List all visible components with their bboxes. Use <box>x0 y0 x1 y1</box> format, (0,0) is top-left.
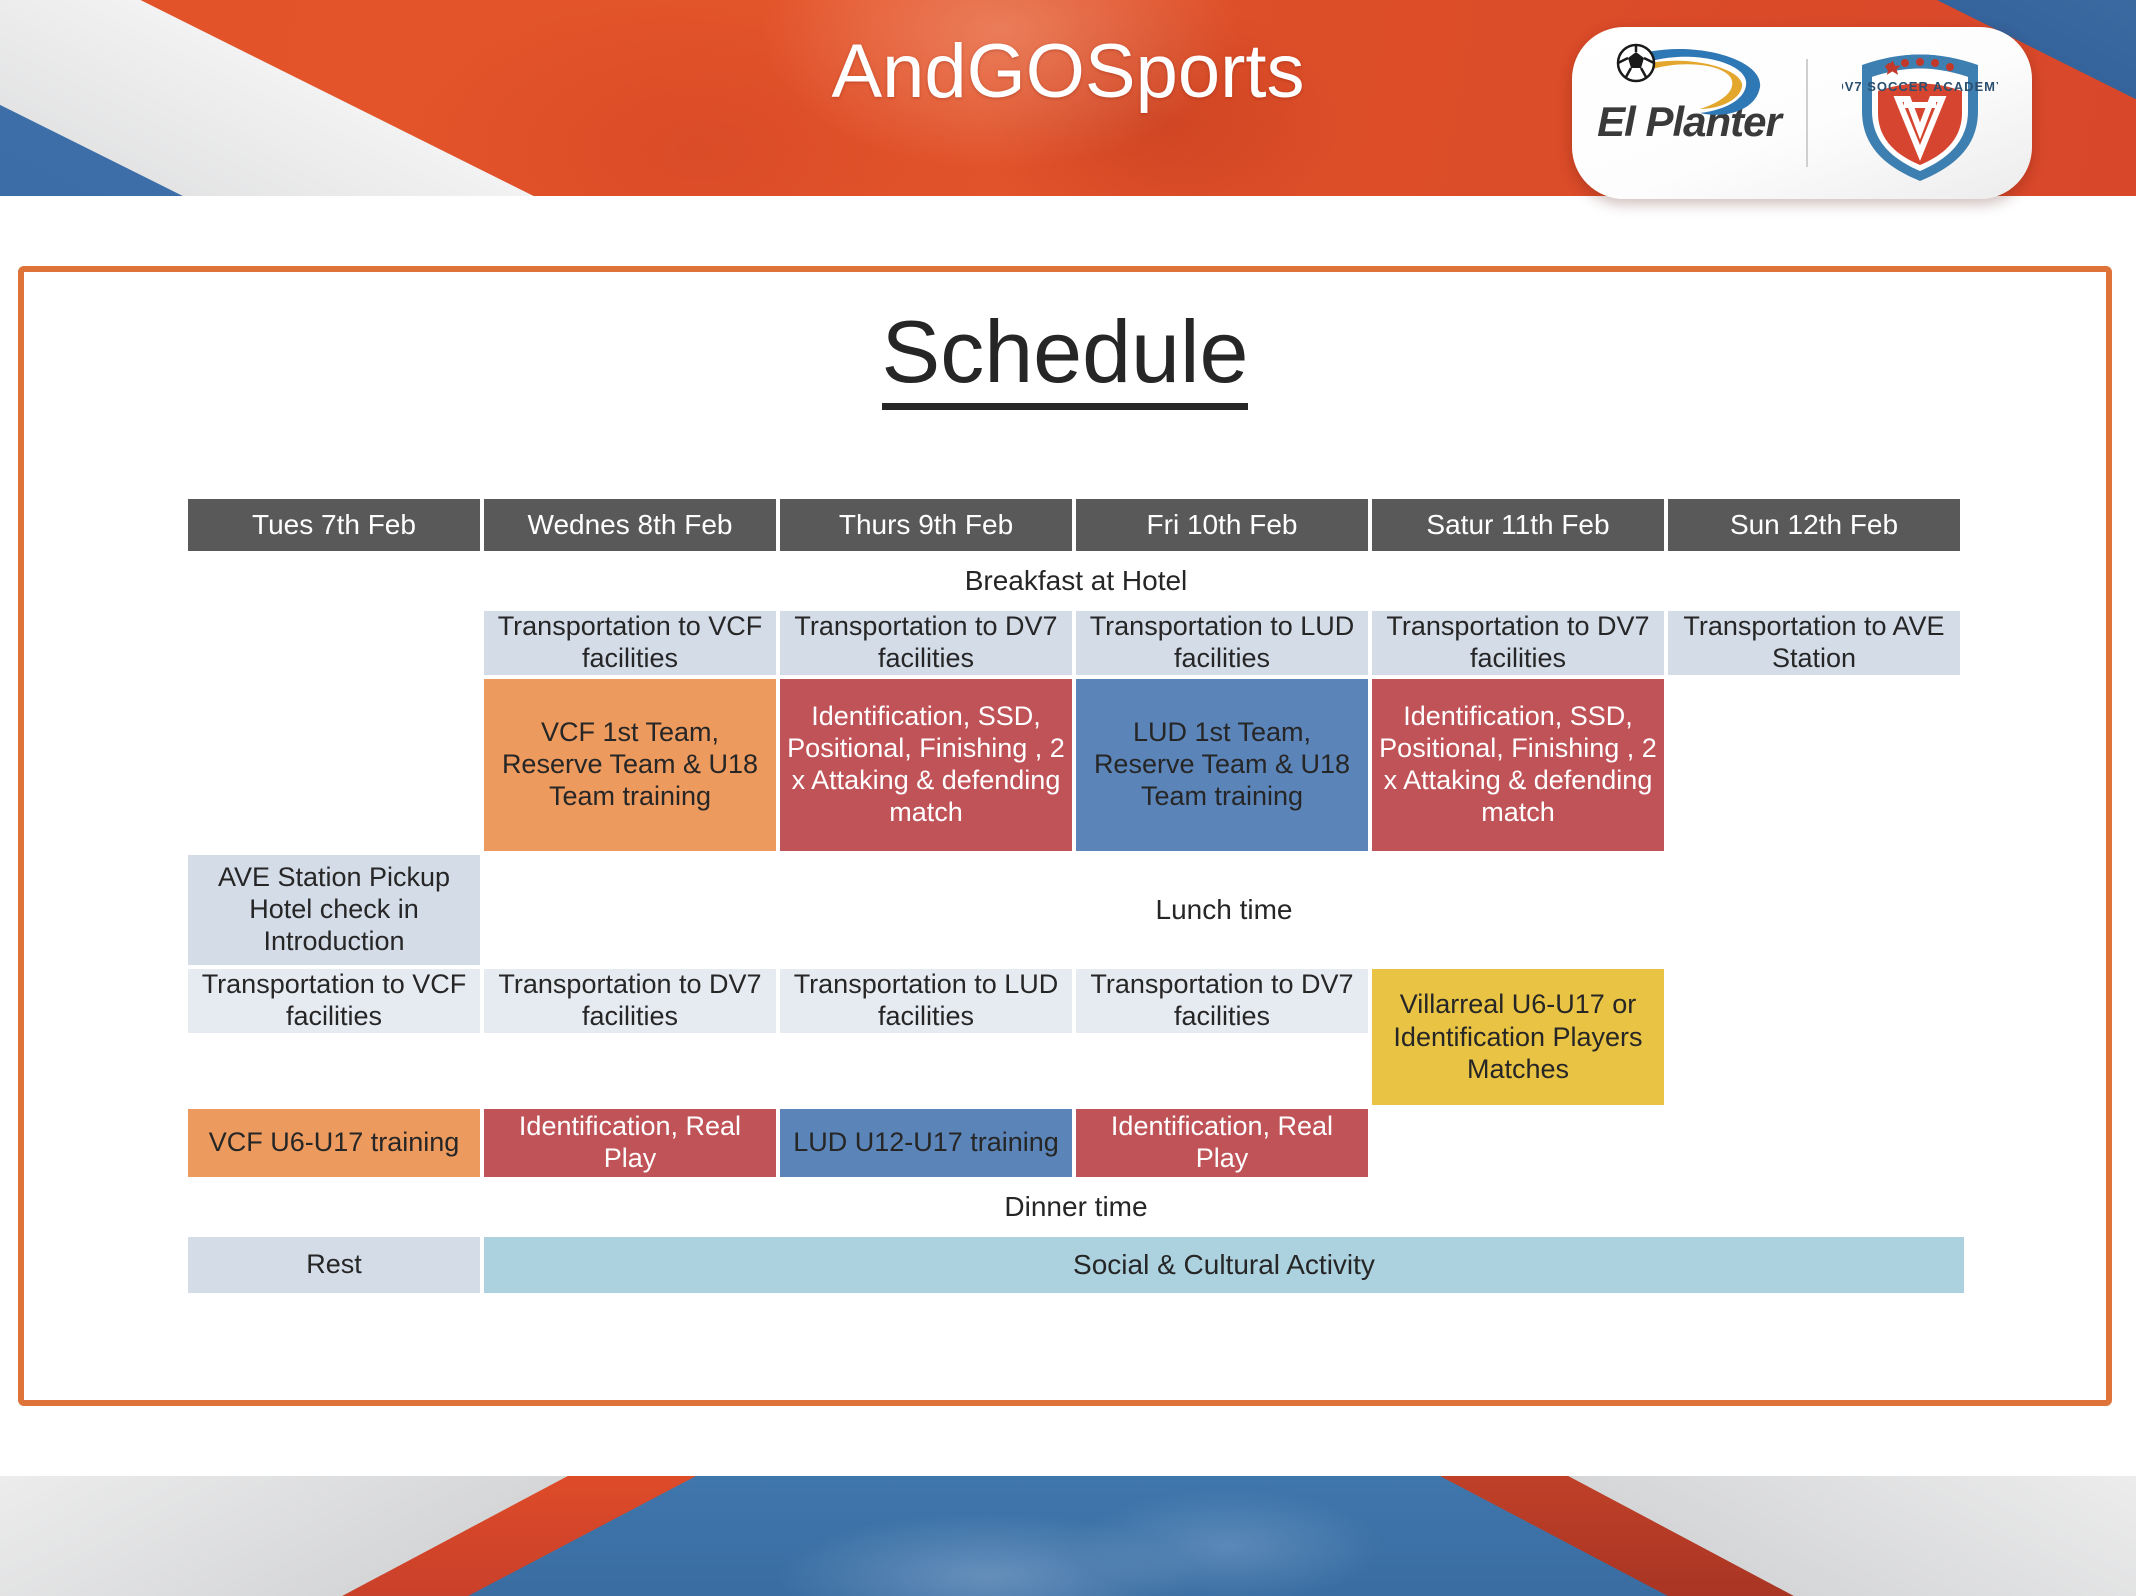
morning-activity-fri: LUD 1st Team, Reserve Team & U18 Team tr… <box>1074 677 1370 853</box>
day-header-satur: Satur 11th Feb <box>1370 497 1666 553</box>
breakfast-row: Breakfast at Hotel <box>186 553 1966 609</box>
morning-transport-wednes: Transportation to VCF facilities <box>482 609 778 677</box>
afternoon-transport-wednes: Transportation to DV7 facilities <box>482 967 778 1035</box>
dinner-label: Dinner time <box>186 1179 1966 1235</box>
day-header-tues: Tues 7th Feb <box>186 497 482 553</box>
afternoon-activity-thurs: LUD U12-U17 training <box>778 1107 1074 1179</box>
afternoon-transport-tues: Transportation to VCF facilities <box>186 967 482 1035</box>
afternoon-activity-tues: VCF U6-U17 training <box>186 1107 482 1179</box>
day-header-wednes: Wednes 8th Feb <box>482 497 778 553</box>
dv7-academy-logo: DV7 SOCCER ACADEMY <box>1808 27 2032 199</box>
afternoon-activity-satur-spacer <box>1370 1107 1666 1179</box>
rest-cell-tues: Rest <box>186 1235 482 1295</box>
soccer-ball-swoosh-icon <box>1614 41 1774 119</box>
day-header-thurs: Thurs 9th Feb <box>778 497 1074 553</box>
day-header-fri: Fri 10th Feb <box>1074 497 1370 553</box>
morning-activity-satur: Identification, SSD, Positional, Finishi… <box>1370 677 1666 853</box>
morning-activity-thurs: Identification, SSD, Positional, Finishi… <box>778 677 1074 853</box>
breakfast-label: Breakfast at Hotel <box>186 553 1966 609</box>
social-activity-cell: Social & Cultural Activity <box>482 1235 1966 1295</box>
page-title-text: Schedule <box>882 302 1249 410</box>
afternoon-transport-thurs: Transportation to LUD facilities <box>778 967 1074 1035</box>
morning-transport-row: Transportation to VCF facilities Transpo… <box>186 609 1966 677</box>
footer-banner <box>0 1476 2136 1596</box>
morning-activity-tues <box>186 677 482 853</box>
evening-row: Rest Social & Cultural Activity <box>186 1235 1966 1295</box>
afternoon-activity-sun <box>1666 1107 1962 1179</box>
dv7-shield-icon: DV7 SOCCER ACADEMY <box>1842 35 1998 191</box>
day-header-sun: Sun 12th Feb <box>1666 497 1962 553</box>
afternoon-transport-fri: Transportation to DV7 facilities <box>1074 967 1370 1035</box>
afternoon-activity-row: VCF U6-U17 training Identification, Real… <box>186 1107 1966 1179</box>
afternoon-transport-row: Transportation to VCF facilities Transpo… <box>186 967 1966 1107</box>
el-planter-logo: El Planter <box>1572 27 1806 199</box>
morning-transport-satur: Transportation to DV7 facilities <box>1370 609 1666 677</box>
svg-text:DV7 SOCCER ACADEMY: DV7 SOCCER ACADEMY <box>1842 79 1998 94</box>
schedule-table: Tues 7th Feb Wednes 8th Feb Thurs 9th Fe… <box>186 497 1966 1295</box>
dinner-row: Dinner time <box>186 1179 1966 1235</box>
partner-logo-badge: El Planter DV7 SOCCER ACADEMY <box>1572 27 2032 199</box>
slide-content-frame: Schedule Tues 7th Feb Wednes 8th Feb Thu… <box>18 266 2112 1406</box>
page-title: Schedule <box>24 306 2106 398</box>
afternoon-transport-sun <box>1666 967 1962 1035</box>
arrival-lunch-row: AVE Station Pickup Hotel check in Introd… <box>186 853 1966 967</box>
morning-transport-fri: Transportation to LUD facilities <box>1074 609 1370 677</box>
table-header-row: Tues 7th Feb Wednes 8th Feb Thurs 9th Fe… <box>186 497 1966 553</box>
saturday-matches-block: Villarreal U6-U17 or Identification Play… <box>1370 967 1666 1107</box>
morning-transport-thurs: Transportation to DV7 facilities <box>778 609 1074 677</box>
morning-activity-wednes: VCF 1st Team, Reserve Team & U18 Team tr… <box>482 677 778 853</box>
afternoon-activity-wednes: Identification, Real Play <box>482 1107 778 1179</box>
morning-transport-sun: Transportation to AVE Station <box>1666 609 1962 677</box>
arrival-cell-tues: AVE Station Pickup Hotel check in Introd… <box>186 853 482 967</box>
morning-transport-tues <box>186 609 482 677</box>
lunch-label: Lunch time <box>482 853 1966 967</box>
afternoon-activity-fri: Identification, Real Play <box>1074 1107 1370 1179</box>
morning-activity-sun <box>1666 677 1962 853</box>
morning-activity-row: VCF 1st Team, Reserve Team & U18 Team tr… <box>186 677 1966 853</box>
